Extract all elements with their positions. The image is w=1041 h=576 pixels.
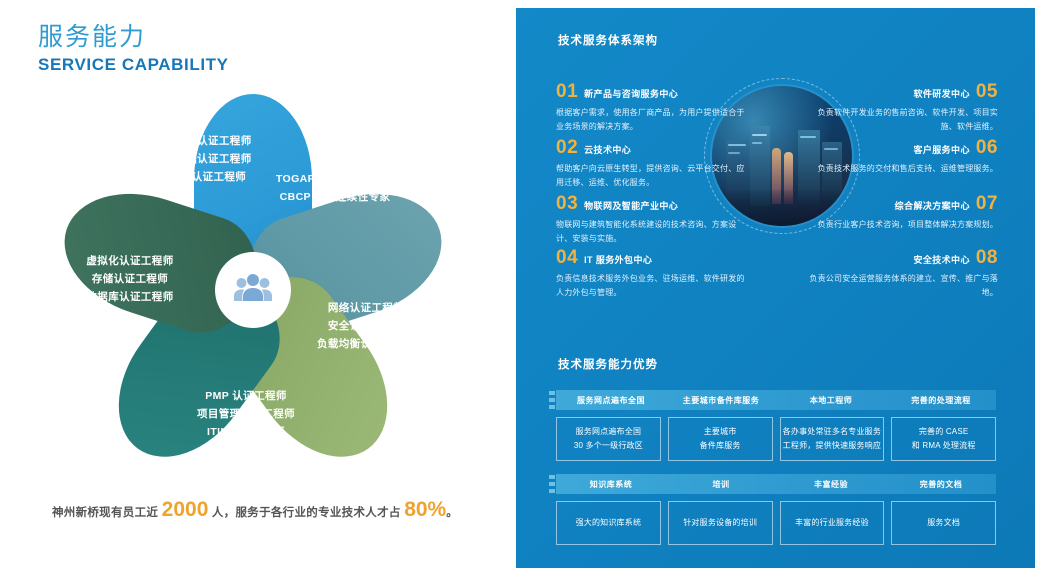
arch-item-07-desc: 负责行业客户技术咨询，项目整体解决方案规划。	[802, 218, 998, 232]
advantages-table-2-body: 强大的知识库系统 针对服务设备的培训 丰富的行业服务经验 服务文档	[556, 501, 996, 545]
petal-label-infrastructure: 虚拟化认证工程师 存储认证工程师 数据库认证工程师	[50, 253, 210, 307]
arch-item-01-desc: 根据客户需求，使用各厂商产品，为用户提供适合于业务场景的解决方案。	[556, 106, 746, 134]
advantages-table-2-header: 知识库系统 培训 丰富经验 完善的文档	[556, 474, 996, 494]
arch-item-05-desc: 负责软件开发业务的售前咨询、软件开发、项目实施、软件运维。	[802, 106, 998, 134]
right-panel: 技术服务体系架构 01 新产品与咨询服务中心 根据客户需求，使用各厂商产品，为用…	[516, 8, 1035, 568]
arch-item-02: 02 云技术中心 帮助客户向云原生转型，提供咨询、云平台交付、应用迁移、运维、优…	[556, 138, 746, 190]
arch-item-08-desc: 负责公司安全运营服务体系的建立、宣传、推广与落地。	[802, 272, 998, 300]
arch-item-07-title: 综合解决方案中心	[895, 202, 970, 211]
arch-item-03-number: 03	[556, 194, 578, 213]
slide-canvas: 服务能力 SERVICE CAPABILITY 云计算认证工程师 大数据认证工程…	[0, 0, 1041, 576]
adv1-header-2: 本地工程师	[776, 390, 886, 410]
arch-item-03: 03 物联网及智能产业中心 物联网与建筑智能化系统建设的技术咨询、方案设计、安装…	[556, 194, 746, 246]
adv1-cell-1: 主要城市 备件库服务	[668, 417, 773, 461]
adv1-header-1: 主要城市备件库服务	[666, 390, 776, 410]
arch-item-05-number: 05	[976, 82, 998, 101]
arch-item-01: 01 新产品与咨询服务中心 根据客户需求，使用各厂商产品，为用户提供适合于业务场…	[556, 82, 746, 134]
petal-label-management: PMP 认证工程师 项目管理认证工程师 ITIL 认证工程师	[156, 388, 336, 442]
arch-item-08-title: 安全技术中心	[913, 256, 969, 265]
petal-label-architecture: TOGAF 企业业务架构师 CBCP 业务连续性专家	[250, 171, 420, 207]
arch-item-08-number: 08	[976, 248, 998, 267]
page-title: 服务能力 SERVICE CAPABILITY	[38, 22, 229, 75]
petal-label-network: 网络认证工程师 安全认证工程师 负载均衡认证工程师	[286, 300, 446, 354]
arch-item-07-number: 07	[976, 194, 998, 213]
arch-item-04-number: 04	[556, 248, 578, 267]
advantages-table-1-body: 服务网点遍布全国 30 多个一级行政区 主要城市 备件库服务 各办事处常驻多名专…	[556, 417, 996, 461]
arch-item-08: 安全技术中心 08 负责公司安全运营服务体系的建立、宣传、推广与落地。	[802, 248, 998, 300]
arch-item-02-title: 云技术中心	[584, 146, 631, 155]
arch-item-06-desc: 负责技术服务的交付和售后支持、运维管理服务。	[802, 162, 998, 176]
adv2-cell-1: 针对服务设备的培训	[668, 501, 773, 545]
arch-item-06: 客户服务中心 06 负责技术服务的交付和售后支持、运维管理服务。	[802, 138, 998, 176]
adv1-header-3: 完善的处理流程	[886, 390, 996, 410]
footnote-part-2: 人，服务于各行业的专业技术人才占	[208, 507, 404, 519]
arch-item-04: 04 IT 服务外包中心 负责信息技术服务外包业务、驻场运维、软件研发的人力外包…	[556, 248, 746, 300]
adv2-cell-3: 服务文档	[891, 501, 996, 545]
employee-footnote: 神州新桥现有员工近 2000 人，服务于各行业的专业技术人才占 80%。	[0, 498, 510, 522]
adv2-cell-2: 丰富的行业服务经验	[780, 501, 885, 545]
advantages-heading: 技术服务能力优势	[558, 356, 658, 372]
notch-decoration	[549, 391, 555, 409]
people-group-icon	[233, 271, 273, 310]
advantages-table-2: 知识库系统 培训 丰富经验 完善的文档 强大的知识库系统 针对服务设备的培训 丰…	[556, 474, 996, 545]
flower-hub	[215, 252, 291, 328]
footnote-part-1: 神州新桥现有员工近	[52, 507, 162, 519]
adv1-cell-3: 完善的 CASE 和 RMA 处理流程	[891, 417, 996, 461]
arch-item-03-desc: 物联网与建筑智能化系统建设的技术咨询、方案设计、安装与实施。	[556, 218, 746, 246]
arch-item-02-desc: 帮助客户向云原生转型，提供咨询、云平台交付、应用迁移、运维、优化服务。	[556, 162, 746, 190]
notch-decoration	[549, 475, 555, 493]
arch-item-01-title: 新产品与咨询服务中心	[584, 90, 678, 99]
arch-item-02-number: 02	[556, 138, 578, 157]
adv2-cell-0: 强大的知识库系统	[556, 501, 661, 545]
adv2-header-1: 培训	[666, 474, 776, 494]
page-title-cn: 服务能力	[38, 22, 229, 53]
adv1-header-0: 服务网点遍布全国	[556, 390, 666, 410]
arch-item-04-desc: 负责信息技术服务外包业务、驻场运维、软件研发的人力外包与管理。	[556, 272, 746, 300]
footnote-percent: 80%	[404, 498, 446, 521]
left-panel: 服务能力 SERVICE CAPABILITY 云计算认证工程师 大数据认证工程…	[0, 0, 510, 576]
arch-item-03-title: 物联网及智能产业中心	[584, 202, 678, 211]
arch-item-06-title: 客户服务中心	[913, 146, 969, 155]
capability-flower-diagram: 云计算认证工程师 大数据认证工程师 软件认证工程师 TOGAF 企业业务架构师 …	[28, 95, 478, 485]
adv2-header-3: 完善的文档	[886, 474, 996, 494]
footnote-employee-count: 2000	[162, 498, 209, 521]
page-title-en: SERVICE CAPABILITY	[38, 55, 229, 75]
adv1-cell-2: 各办事处常驻多名专业服务 工程师，提供快速服务响应	[780, 417, 885, 461]
arch-item-04-title: IT 服务外包中心	[584, 256, 652, 265]
architecture-heading: 技术服务体系架构	[558, 32, 658, 48]
advantages-table-1-header: 服务网点遍布全国 主要城市备件库服务 本地工程师 完善的处理流程	[556, 390, 996, 410]
arch-item-05-title: 软件研发中心	[913, 90, 969, 99]
footnote-part-3: 。	[446, 507, 458, 519]
adv2-header-2: 丰富经验	[776, 474, 886, 494]
arch-item-01-number: 01	[556, 82, 578, 101]
arch-item-05: 软件研发中心 05 负责软件开发业务的售前咨询、软件开发、项目实施、软件运维。	[802, 82, 998, 134]
advantages-table-1: 服务网点遍布全国 主要城市备件库服务 本地工程师 完善的处理流程 服务网点遍布全…	[556, 390, 996, 461]
arch-item-07: 综合解决方案中心 07 负责行业客户技术咨询，项目整体解决方案规划。	[802, 194, 998, 232]
arch-item-06-number: 06	[976, 138, 998, 157]
adv2-header-0: 知识库系统	[556, 474, 666, 494]
adv1-cell-0: 服务网点遍布全国 30 多个一级行政区	[556, 417, 661, 461]
